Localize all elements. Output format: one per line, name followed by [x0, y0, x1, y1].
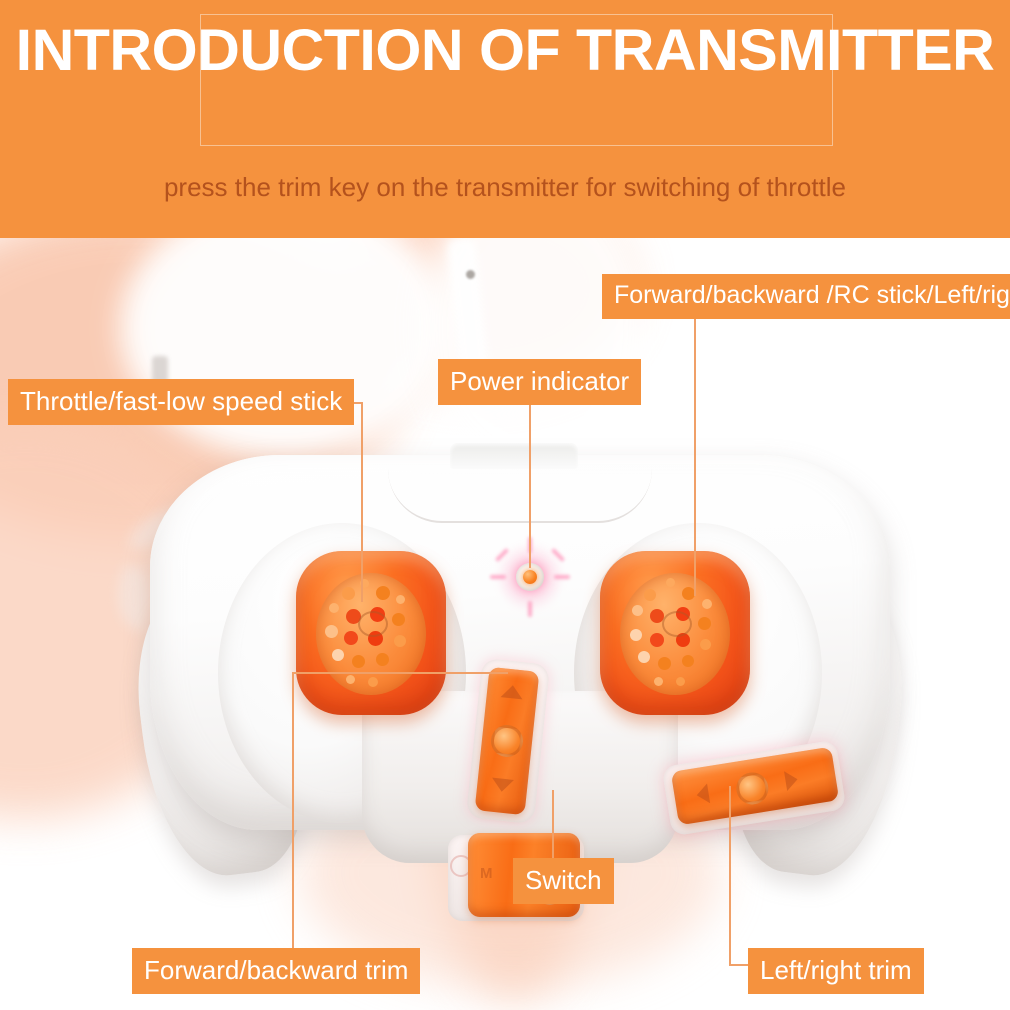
connector-rcstick-vertical [694, 318, 696, 596]
callout-left-right-trim[interactable]: Left/right trim [748, 948, 924, 994]
page-title: INTRODUCTION OF TRANSMITTER [0, 22, 1010, 80]
rc-transmitter: M CH [150, 455, 890, 875]
connector-throttle-vertical [361, 402, 363, 602]
bg-blob [700, 238, 1010, 428]
arrow-right-icon [784, 769, 799, 791]
stick-center-ring [662, 611, 692, 637]
trim-hub-icon [734, 770, 771, 807]
connector-fwdback-horizontal [292, 672, 508, 674]
trim-hub-icon [489, 723, 524, 758]
rc-stick[interactable] [600, 551, 750, 715]
transmitter-shell: M CH [150, 455, 890, 830]
connector-switch-vertical [552, 790, 554, 860]
callout-switch[interactable]: Switch [513, 858, 614, 904]
power-indicator-core [523, 570, 537, 584]
header-banner: INTRODUCTION OF TRANSMITTER press the tr… [0, 0, 1010, 238]
callout-throttle-stick[interactable]: Throttle/fast-low speed stick [8, 379, 354, 425]
connector-power-vertical [529, 396, 531, 568]
arrow-down-icon [491, 778, 514, 793]
callout-rc-stick[interactable]: Forward/backward /RC stick/Left/right [602, 274, 1010, 319]
arrow-up-icon [501, 684, 524, 699]
blurred-drone-screw [466, 270, 475, 279]
page-subtitle: press the trim key on the transmitter fo… [0, 172, 1010, 203]
throttle-stick[interactable] [296, 551, 446, 715]
callout-power-indicator[interactable]: Power indicator [438, 359, 641, 405]
throttle-stick-pad [316, 573, 426, 695]
rc-stick-pad [620, 573, 730, 695]
infographic-page: INTRODUCTION OF TRANSMITTER press the tr… [0, 0, 1010, 1010]
switch-label-left: M [480, 865, 492, 882]
connector-fwdback-vertical [292, 672, 294, 950]
callout-forward-backward-trim[interactable]: Forward/backward trim [132, 948, 420, 994]
connector-leftright-vertical [729, 786, 731, 966]
antenna-housing [450, 443, 578, 469]
arrow-left-icon [695, 783, 710, 805]
stick-center-ring [358, 611, 388, 637]
shell-seam [388, 469, 652, 523]
